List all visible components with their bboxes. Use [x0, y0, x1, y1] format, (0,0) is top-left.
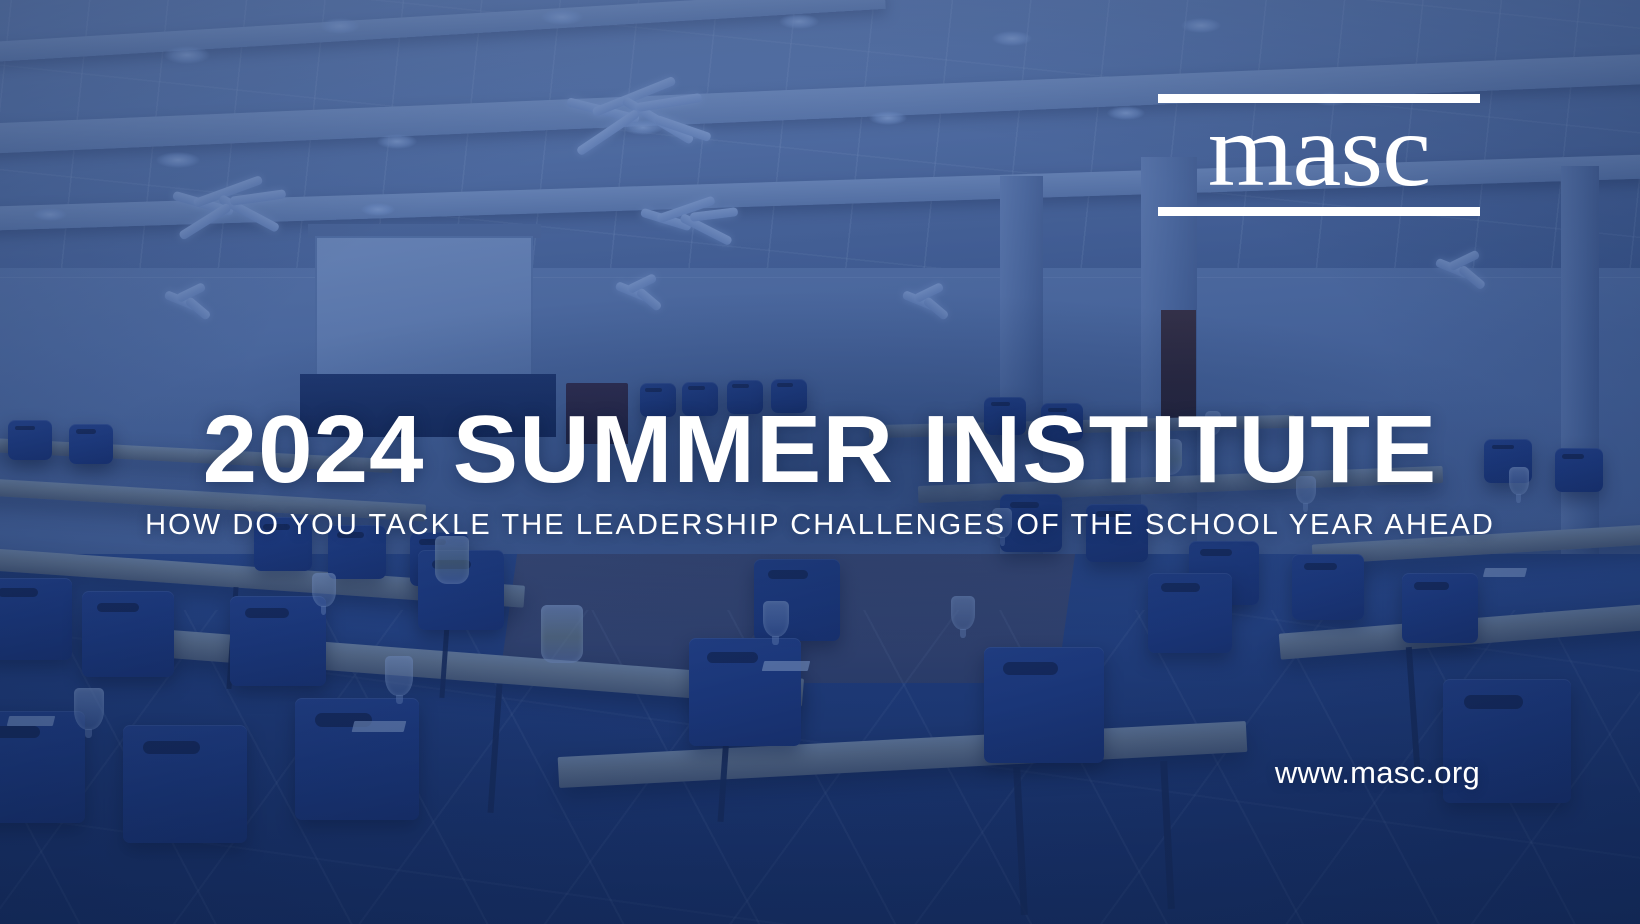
- page-title: 2024 SUMMER INSTITUTE: [0, 402, 1640, 498]
- banner-content: masc 2024 SUMMER INSTITUTE HOW DO YOU TA…: [0, 0, 1640, 924]
- promo-banner: masc 2024 SUMMER INSTITUTE HOW DO YOU TA…: [0, 0, 1640, 924]
- logo-wordmark-text: masc: [1208, 107, 1430, 200]
- logo-rule-top: [1158, 94, 1480, 103]
- logo-rule-bottom: [1158, 207, 1480, 216]
- headline-block: 2024 SUMMER INSTITUTE HOW DO YOU TACKLE …: [0, 402, 1640, 542]
- website-url[interactable]: www.masc.org: [1275, 755, 1480, 791]
- page-subtitle: HOW DO YOU TACKLE THE LEADERSHIP CHALLEN…: [0, 510, 1640, 542]
- logo-wordmark: masc: [1158, 107, 1480, 203]
- masc-logo[interactable]: masc: [1158, 94, 1480, 216]
